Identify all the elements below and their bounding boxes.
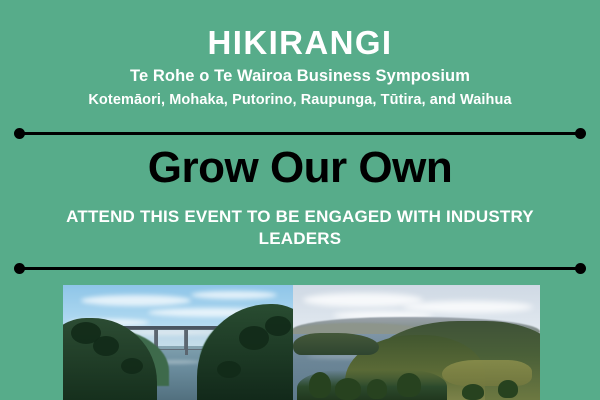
bush bbox=[239, 326, 269, 350]
photo-strip bbox=[63, 285, 540, 400]
tree bbox=[367, 379, 387, 399]
poster-subtitle: Te Rohe o Te Wairoa Business Symposium bbox=[0, 68, 600, 85]
poster-header: HIKIRANGI Te Rohe o Te Wairoa Business S… bbox=[0, 0, 600, 107]
cloud bbox=[81, 295, 191, 306]
poster-locations: Kotemāori, Mohaka, Putorino, Raupunga, T… bbox=[0, 93, 600, 108]
divider-bar bbox=[19, 267, 581, 270]
photo-lake-and-rolling-hills bbox=[293, 285, 540, 400]
divider-top bbox=[14, 127, 586, 139]
farmland-patch bbox=[442, 360, 532, 386]
bush bbox=[121, 358, 143, 374]
tree bbox=[498, 380, 518, 398]
cloud bbox=[191, 291, 277, 299]
cloud bbox=[403, 301, 533, 313]
viaduct-pier bbox=[185, 329, 188, 355]
tree bbox=[335, 378, 361, 400]
bush bbox=[265, 316, 291, 336]
bush bbox=[71, 322, 101, 344]
peninsula bbox=[293, 333, 379, 355]
page-title: HIKIRANGI bbox=[0, 26, 600, 59]
event-poster: HIKIRANGI Te Rohe o Te Wairoa Business S… bbox=[0, 0, 600, 400]
tree bbox=[309, 372, 331, 398]
poster-headline: Grow Our Own bbox=[0, 144, 600, 192]
divider-dot-right bbox=[575, 128, 586, 139]
viaduct-truss bbox=[157, 329, 185, 350]
tree bbox=[462, 384, 484, 400]
divider-bottom bbox=[14, 262, 586, 274]
divider-dot-right bbox=[575, 263, 586, 274]
tree bbox=[397, 373, 421, 397]
photo-railway-viaduct-over-river-gorge bbox=[63, 285, 293, 400]
bush bbox=[217, 361, 241, 378]
poster-call-to-action: ATTEND THIS EVENT TO BE ENGAGED WITH IND… bbox=[28, 206, 572, 250]
divider-bar bbox=[19, 132, 581, 135]
